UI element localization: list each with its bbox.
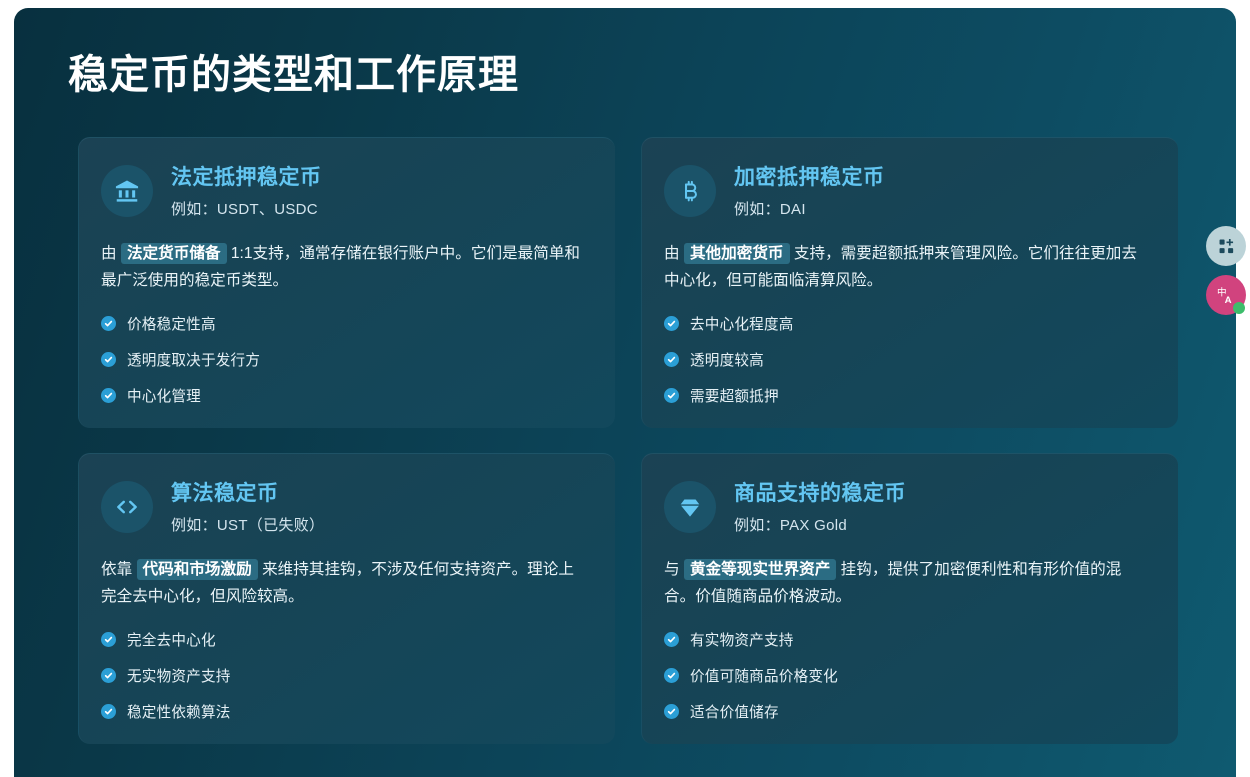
widget-add-button[interactable]: [1206, 226, 1246, 266]
card-header-text: 算法稳定币 例如：UST（已失败）: [171, 478, 324, 535]
check-icon: [664, 632, 679, 647]
description-prefix: 与: [664, 561, 680, 578]
card-subtitle: 例如：PAX Gold: [734, 514, 906, 535]
check-icon: [101, 668, 116, 683]
check-icon: [664, 316, 679, 331]
list-item: 透明度取决于发行方: [101, 349, 589, 370]
check-icon: [101, 388, 116, 403]
check-icon: [664, 668, 679, 683]
card-subtitle: 例如：USDT、USDC: [171, 198, 322, 219]
list-item-label: 稳定性依赖算法: [127, 701, 231, 722]
check-icon: [664, 388, 679, 403]
card-description: 由 其他加密货币 支持，需要超额抵押来管理风险。它们往往更加去中心化，但可能面临…: [664, 241, 1152, 295]
card-description: 依靠 代码和市场激励 来维持其挂钩，不涉及任何支持资产。理论上完全去中心化，但风…: [101, 557, 589, 611]
list-item-label: 适合价值储存: [690, 701, 779, 722]
list-item: 有实物资产支持: [664, 629, 1152, 650]
list-item: 中心化管理: [101, 385, 589, 406]
list-item: 价值可随商品价格变化: [664, 665, 1152, 686]
feature-list: 完全去中心化 无实物资产支持 稳定性依赖算法: [101, 629, 589, 722]
svg-text:A: A: [1225, 295, 1232, 306]
list-item: 去中心化程度高: [664, 313, 1152, 334]
description-highlight: 代码和市场激励: [137, 559, 258, 580]
card-header: 商品支持的稳定币 例如：PAX Gold: [664, 478, 1152, 535]
card-title: 算法稳定币: [171, 480, 324, 507]
list-item-label: 透明度取决于发行方: [127, 349, 260, 370]
diamond-icon: [664, 481, 716, 533]
card-crypto-collateralized[interactable]: 加密抵押稳定币 例如：DAI 由 其他加密货币 支持，需要超额抵押来管理风险。它…: [641, 137, 1178, 428]
content-panel: 稳定币的类型和工作原理 法定抵押稳定币: [14, 8, 1236, 777]
list-item-label: 透明度较高: [690, 349, 764, 370]
card-header-text: 商品支持的稳定币 例如：PAX Gold: [734, 478, 906, 535]
description-highlight: 其他加密货币: [684, 243, 790, 264]
code-icon: [101, 481, 153, 533]
card-header: 加密抵押稳定币 例如：DAI: [664, 162, 1152, 219]
description-highlight: 法定货币储备: [121, 243, 227, 264]
description-prefix: 由: [664, 245, 680, 262]
check-icon: [101, 632, 116, 647]
screen-root: 稳定币的类型和工作原理 法定抵押稳定币: [0, 0, 1250, 777]
list-item: 透明度较高: [664, 349, 1152, 370]
card-subtitle: 例如：DAI: [734, 198, 885, 219]
description-prefix: 由: [101, 245, 117, 262]
description-highlight: 黄金等现实世界资产: [684, 559, 836, 580]
list-item-label: 无实物资产支持: [127, 665, 231, 686]
translate-icon: 中 A: [1215, 284, 1237, 306]
list-item-label: 有实物资产支持: [690, 629, 794, 650]
card-header: 算法稳定币 例如：UST（已失败）: [101, 478, 589, 535]
check-icon: [101, 704, 116, 719]
list-item: 适合价值储存: [664, 701, 1152, 722]
translate-button[interactable]: 中 A: [1206, 275, 1246, 315]
card-commodity-backed[interactable]: 商品支持的稳定币 例如：PAX Gold 与 黄金等现实世界资产 挂钩，提供了加…: [641, 453, 1178, 744]
list-item-label: 价格稳定性高: [127, 313, 216, 334]
card-header-text: 加密抵押稳定币 例如：DAI: [734, 162, 885, 219]
feature-list: 有实物资产支持 价值可随商品价格变化 适合价值储存: [664, 629, 1152, 722]
card-title: 加密抵押稳定币: [734, 164, 885, 191]
list-item-label: 需要超额抵押: [690, 385, 779, 406]
card-fiat-collateralized[interactable]: 法定抵押稳定币 例如：USDT、USDC 由 法定货币储备 1:1支持，通常存储…: [78, 137, 615, 428]
card-title: 商品支持的稳定币: [734, 480, 906, 507]
card-header-text: 法定抵押稳定币 例如：USDT、USDC: [171, 162, 322, 219]
list-item-label: 去中心化程度高: [690, 313, 794, 334]
list-item-label: 中心化管理: [127, 385, 201, 406]
check-icon: [664, 352, 679, 367]
list-item-label: 完全去中心化: [127, 629, 216, 650]
card-subtitle: 例如：UST（已失败）: [171, 514, 324, 535]
grid-plus-icon: [1217, 237, 1236, 256]
check-icon: [101, 316, 116, 331]
floating-tool-stack: 中 A: [1206, 226, 1250, 324]
list-item: 需要超额抵押: [664, 385, 1152, 406]
stablecoin-card-grid: 法定抵押稳定币 例如：USDT、USDC 由 法定货币储备 1:1支持，通常存储…: [78, 137, 1178, 744]
feature-list: 价格稳定性高 透明度取决于发行方 中心化管理: [101, 313, 589, 406]
description-prefix: 依靠: [101, 561, 132, 578]
list-item-label: 价值可随商品价格变化: [690, 665, 838, 686]
bank-icon: [101, 165, 153, 217]
list-item: 无实物资产支持: [101, 665, 589, 686]
list-item: 稳定性依赖算法: [101, 701, 589, 722]
list-item: 价格稳定性高: [101, 313, 589, 334]
check-icon: [664, 704, 679, 719]
page-title: 稳定币的类型和工作原理: [68, 50, 519, 100]
check-icon: [101, 352, 116, 367]
status-badge: [1233, 302, 1245, 314]
card-description: 与 黄金等现实世界资产 挂钩，提供了加密便利性和有形价值的混合。价值随商品价格波…: [664, 557, 1152, 611]
card-header: 法定抵押稳定币 例如：USDT、USDC: [101, 162, 589, 219]
feature-list: 去中心化程度高 透明度较高 需要超额抵押: [664, 313, 1152, 406]
bitcoin-icon: [664, 165, 716, 217]
card-title: 法定抵押稳定币: [171, 164, 322, 191]
list-item: 完全去中心化: [101, 629, 589, 650]
card-algorithmic[interactable]: 算法稳定币 例如：UST（已失败） 依靠 代码和市场激励 来维持其挂钩，不涉及任…: [78, 453, 615, 744]
card-description: 由 法定货币储备 1:1支持，通常存储在银行账户中。它们是最简单和最广泛使用的稳…: [101, 241, 589, 295]
